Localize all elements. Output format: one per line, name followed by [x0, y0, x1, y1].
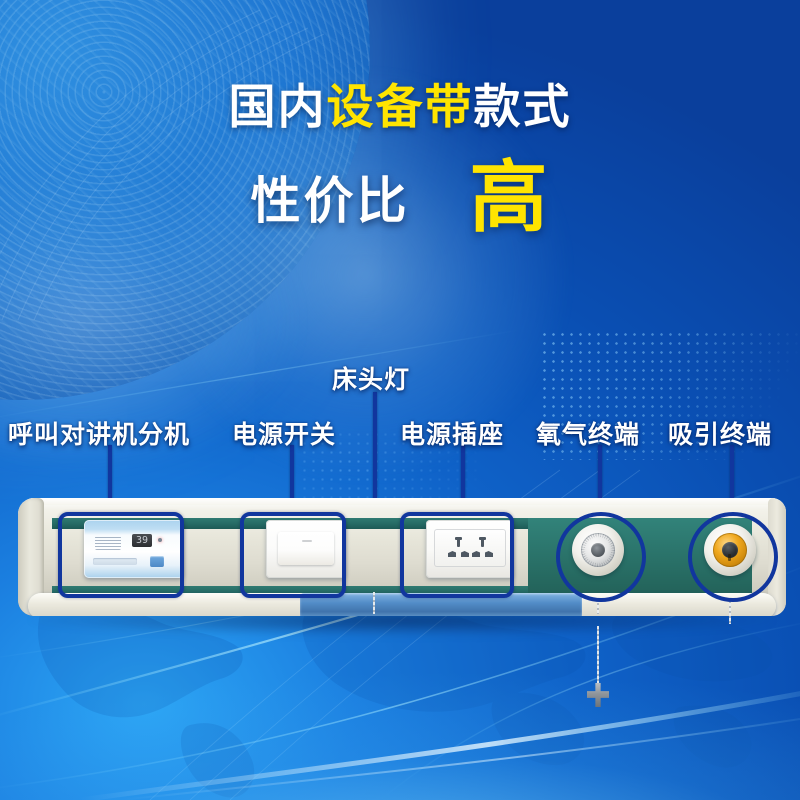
panel-top-edge: [26, 498, 778, 505]
headline-part-1: 国内: [229, 80, 327, 133]
callout-label-suction: 吸引终端: [668, 415, 772, 451]
headline-part-3: 款式: [474, 80, 572, 133]
poster-stage: 国内设备带款式 性价比 高 呼叫对讲机分机 电源开关 床头灯 电源插座 氧气终端…: [0, 0, 800, 800]
highlight-circle-oxygen: [556, 512, 646, 602]
callout-label-oxygen: 氧气终端: [536, 415, 640, 451]
bed-lamp-pull-cord-lower: [597, 626, 599, 686]
headline-line-2: 性价比 高: [0, 158, 800, 236]
callout-label-intercom: 呼叫对讲机分机: [8, 415, 190, 451]
highlight-box-socket: [400, 512, 514, 598]
headline-line-1: 国内设备带款式: [0, 78, 800, 136]
subheadline-text: 性价比: [250, 161, 409, 233]
oxygen-hose-cord: [597, 600, 599, 614]
subheadline-emphasis: 高: [469, 158, 549, 236]
callout-label-socket: 电源插座: [400, 415, 504, 451]
highlight-box-switch: [240, 512, 346, 598]
highlight-circle-suction: [688, 512, 778, 602]
highlight-box-intercom: [58, 512, 184, 598]
callout-label-switch: 电源开关: [232, 415, 336, 451]
headline-part-2: 设备带: [327, 80, 474, 133]
bed-lamp-pull-cord: [373, 592, 375, 614]
callout-label-bed-lamp: 床头灯: [332, 360, 410, 396]
